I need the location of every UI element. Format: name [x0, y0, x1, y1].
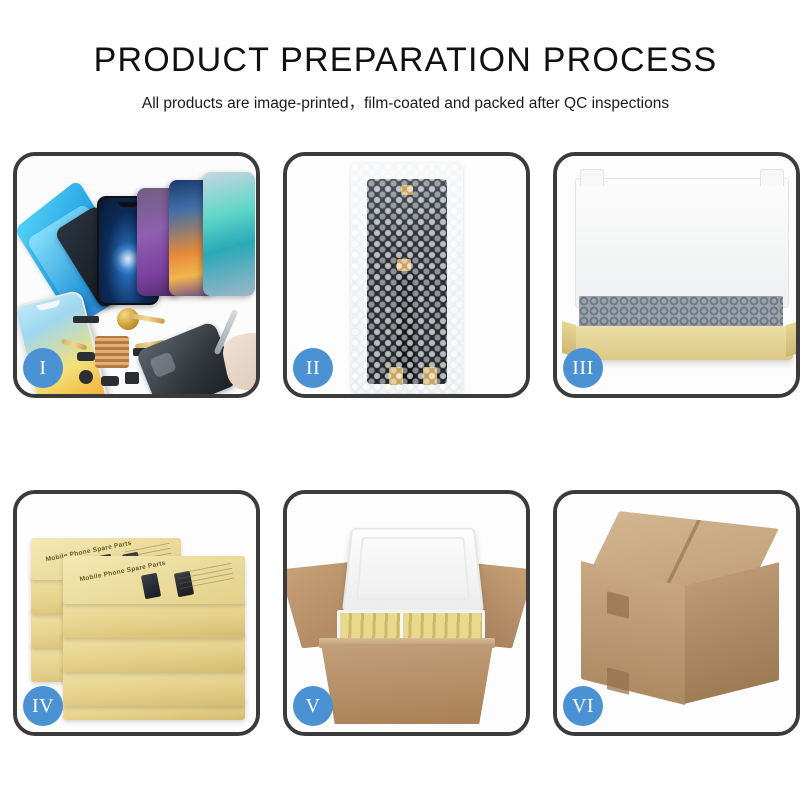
- step-panel-4: Mobile Phone Spare Parts Mobile Phone Sp…: [13, 490, 260, 736]
- copper-grid-icon: [95, 336, 129, 368]
- infographic-page: PRODUCT PREPARATION PROCESS All products…: [0, 0, 811, 811]
- step-badge-1: I: [23, 348, 63, 388]
- page-subtitle: All products are image-printed，film-coat…: [0, 91, 811, 113]
- header: PRODUCT PREPARATION PROCESS All products…: [0, 0, 811, 113]
- step-badge-6: VI: [563, 686, 603, 726]
- process-step-grid: I II: [13, 152, 798, 736]
- open-carton-icon: [307, 526, 507, 706]
- component-chip-icon: [101, 376, 119, 386]
- bubble-texture: [351, 163, 463, 393]
- bubble-wrapped-contents-icon: [579, 296, 783, 328]
- page-title: PRODUCT PREPARATION PROCESS: [0, 42, 811, 79]
- carton-front-face: [321, 644, 493, 724]
- gold-box-base-icon: [569, 326, 793, 360]
- carton-left-face: [581, 561, 685, 705]
- component-chip-icon: [79, 370, 93, 384]
- foam-lid-icon: [342, 528, 484, 612]
- step-badge-5: V: [293, 686, 333, 726]
- component-chip-icon: [77, 352, 95, 361]
- step-badge-4: IV: [23, 686, 63, 726]
- step-panel-2: II: [283, 152, 530, 398]
- sealed-carton-icon: [581, 520, 779, 710]
- tape-patch-icon: [607, 667, 629, 694]
- gold-box: [63, 632, 245, 672]
- bubble-wrap-bag-icon: [351, 163, 463, 393]
- gold-box: [63, 666, 245, 706]
- phone-teal-icon: [203, 172, 255, 296]
- step-panel-1: I: [13, 152, 260, 398]
- component-chip-icon: [125, 372, 139, 384]
- step-badge-2: II: [293, 348, 333, 388]
- gold-box: [63, 598, 245, 638]
- gold-box-top-front: Mobile Phone Spare Parts: [63, 556, 245, 604]
- step-panel-5: V: [283, 490, 530, 736]
- step-badge-3: III: [563, 348, 603, 388]
- carton-right-face: [685, 562, 779, 703]
- component-chip-icon: [73, 316, 99, 323]
- step-panel-6: VI: [553, 490, 800, 736]
- step-panel-3: III: [553, 152, 800, 398]
- box-lid-icon: [575, 178, 789, 308]
- box-stack: Mobile Phone Spare Parts Mobile Phone Sp…: [29, 512, 253, 718]
